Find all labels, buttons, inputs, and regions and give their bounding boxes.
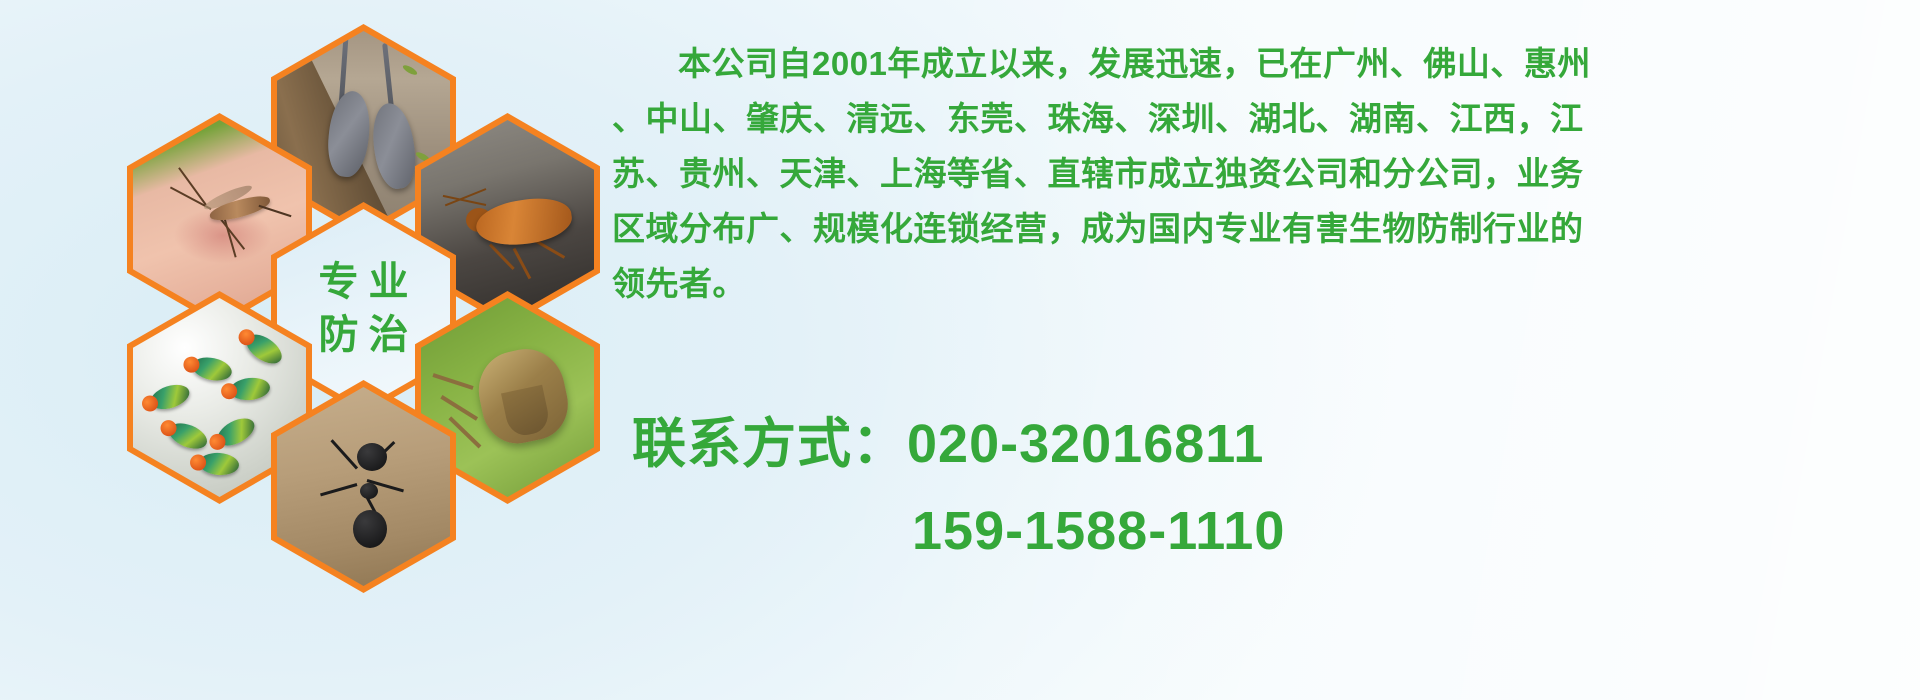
stink-bug-leg [440,395,478,421]
fly-body [229,376,271,402]
ant-leg [330,439,358,469]
company-description: 本公司自2001年成立以来，发展迅速，已在广州、佛山、惠州 、中山、肇庆、清远、… [612,36,1902,311]
cockroach-leg [513,248,532,279]
contact-block: 联系方式：020-32016811 159-1588-1110 [612,400,1285,574]
fly-body [213,413,259,451]
cockroach-leg [534,240,565,260]
description-line-3: 苏、贵州、天津、上海等省、直辖市成立独资公司和分公司，业务 [612,146,1902,201]
ant-head [357,443,387,471]
honeycomb-cluster: 专业 防治 [95,0,595,560]
center-label-line-2: 防治 [309,313,419,358]
ant-thorax [360,483,378,499]
hex-inner-ant [277,387,450,586]
ant-leg [320,483,357,496]
cockroach-body [474,193,575,250]
description-line-2: 、中山、肇庆、清远、东莞、珠海、深圳、湖北、湖南、江西，江 [612,91,1902,146]
stink-bug-leg [433,373,474,390]
fly-body [148,380,193,413]
contact-phone-landline[interactable]: 联系方式：020-32016811 [612,400,1285,488]
fly-body [241,328,286,369]
fly-body [198,452,239,477]
stink-bug-body [471,342,574,450]
center-label-line-1: 专业 [309,260,419,305]
ant-photo [277,387,450,586]
ant-abdomen [353,510,387,548]
description-line-1: 本公司自2001年成立以来，发展迅速，已在广州、佛山、惠州 [612,36,1902,91]
description-line-5: 领先者。 [612,256,1902,311]
promo-banner: 专业 防治 [0,0,1920,700]
description-line-4: 区域分布广、规模化连锁经营，成为国内专业有害生物防制行业的 [612,201,1902,256]
rat-photo-body [368,100,420,191]
contact-phone-mobile[interactable]: 159-1588-1110 [612,488,1285,574]
fly-body [190,354,234,384]
mosquito-proboscis [258,204,291,216]
cockroach-leg [489,244,515,271]
rat-photo-leaf [401,63,418,76]
fly-body [165,419,210,454]
